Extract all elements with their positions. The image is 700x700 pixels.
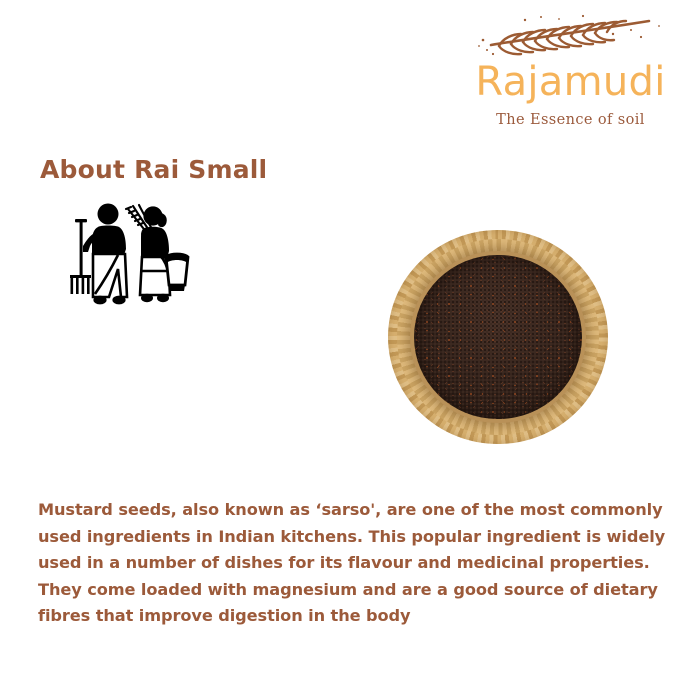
brand-tagline: The Essence of soil: [463, 111, 678, 129]
page-title: About Rai Small: [40, 155, 267, 184]
mustard-seeds: [414, 255, 581, 420]
product-image-mustard-seeds: [388, 230, 608, 444]
brand-logo: Rajamudi The Essence of soil: [463, 12, 678, 129]
wheat-stalk-icon: [463, 12, 678, 58]
farmer-couple-icon: [62, 197, 190, 317]
brand-name: Rajamudi: [463, 60, 678, 104]
product-description: Mustard seeds, also known as ‘sarso', ar…: [38, 497, 672, 630]
about-product-page: Rajamudi The Essence of soil About Rai S…: [0, 0, 700, 700]
